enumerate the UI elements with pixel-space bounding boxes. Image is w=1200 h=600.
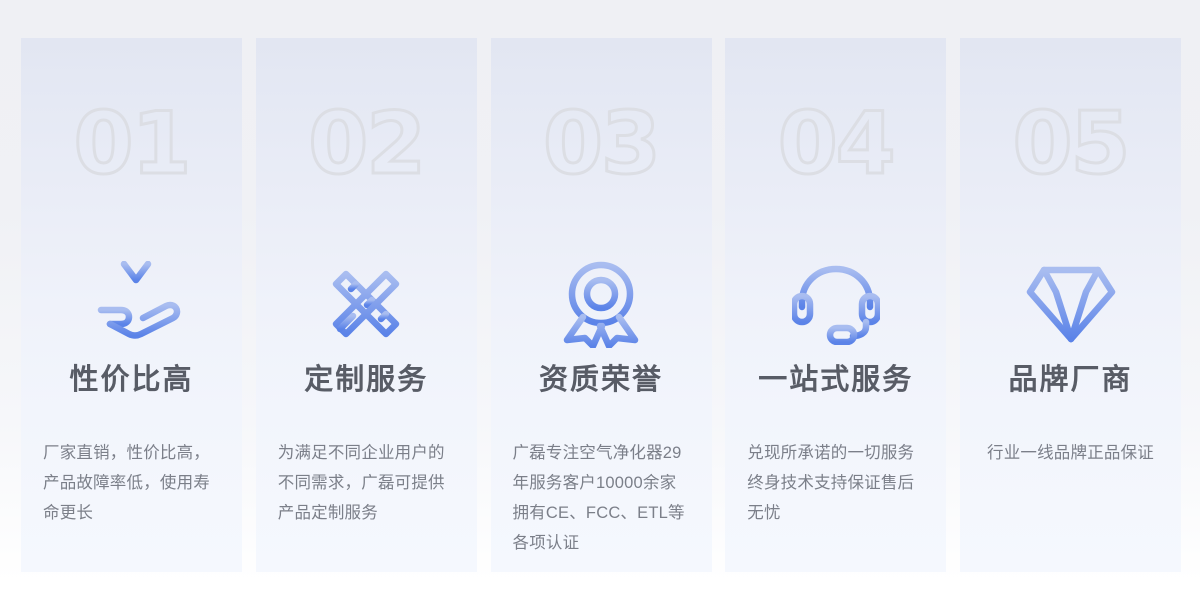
card-number-wrap: 03 <box>491 96 712 192</box>
card-number: 01 <box>74 94 190 194</box>
feature-card[interactable]: 04 <box>725 38 946 572</box>
feature-highlights-section: 01 <box>0 0 1200 600</box>
hand-holding-yuan-icon <box>21 256 242 352</box>
card-title: 资质荣誉 <box>491 360 712 400</box>
card-description-wrap: 行业一线品牌正品保证 <box>960 438 1181 568</box>
card-number-wrap: 02 <box>256 96 477 192</box>
diamond-icon <box>960 256 1181 352</box>
card-description-wrap: 兑现所承诺的一切服务终身技术支持保证售后无忧 <box>725 438 946 568</box>
card-number-wrap: 04 <box>725 96 946 192</box>
card-description: 兑现所承诺的一切服务终身技术支持保证售后无忧 <box>747 438 924 528</box>
card-number: 05 <box>1013 94 1129 194</box>
card-description-wrap: 广磊专注空气净化器29年服务客户10000余家拥有CE、FCC、ETL等各项认证 <box>491 438 712 568</box>
award-medal-icon <box>491 256 712 352</box>
feature-card[interactable]: 05 <box>960 38 1181 572</box>
card-number: 04 <box>778 94 894 194</box>
feature-card[interactable]: 03 <box>491 38 712 572</box>
card-title: 一站式服务 <box>725 360 946 400</box>
card-description: 为满足不同企业用户的不同需求，广磊可提供产品定制服务 <box>278 438 455 528</box>
feature-card[interactable]: 01 <box>21 38 242 572</box>
card-number-wrap: 05 <box>960 96 1181 192</box>
headset-icon <box>725 256 946 352</box>
card-description: 行业一线品牌正品保证 <box>982 438 1159 468</box>
card-description-wrap: 厂家直销，性价比高，产品故障率低，使用寿命更长 <box>21 438 242 568</box>
card-number: 03 <box>543 94 659 194</box>
card-title: 性价比高 <box>21 360 242 400</box>
card-description: 厂家直销，性价比高，产品故障率低，使用寿命更长 <box>43 438 220 528</box>
card-description: 广磊专注空气净化器29年服务客户10000余家拥有CE、FCC、ETL等各项认证 <box>513 438 690 558</box>
card-description-wrap: 为满足不同企业用户的不同需求，广磊可提供产品定制服务 <box>256 438 477 568</box>
pen-ruler-icon <box>256 256 477 352</box>
feature-card[interactable]: 02 <box>256 38 477 572</box>
card-number-wrap: 01 <box>21 96 242 192</box>
card-number: 02 <box>308 94 424 194</box>
card-title: 品牌厂商 <box>960 360 1181 400</box>
feature-card-list: 01 <box>21 38 1181 572</box>
card-title: 定制服务 <box>256 360 477 400</box>
